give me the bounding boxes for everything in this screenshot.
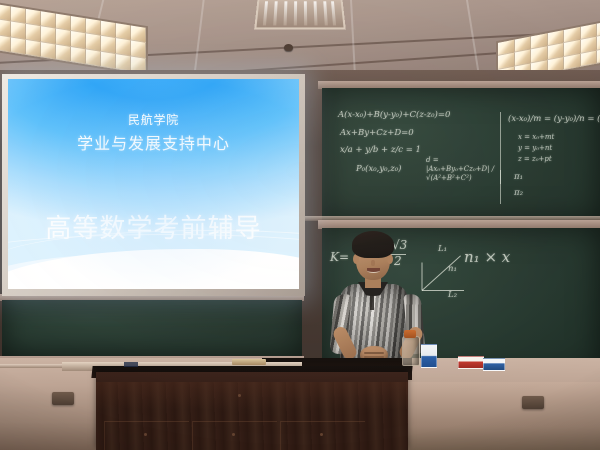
left-blackboard-strip — [2, 300, 302, 358]
ceiling-grid-line — [350, 0, 356, 76]
chalk-equation: x/a + y/b + z/c = 1 — [340, 145, 421, 155]
lectern-knob[interactable] — [144, 433, 147, 436]
chalk-equation: π₁ — [514, 172, 523, 182]
projected-slide: 民航学院 学业与发展支持中心 高等数学考前辅导 — [8, 79, 299, 289]
wall-mount-block — [522, 396, 544, 409]
chalk-equation: z = z₀+pt — [518, 155, 552, 163]
smoke-detector-icon — [284, 44, 293, 51]
parabolic-louver-light-right — [496, 15, 600, 76]
tissue-box[interactable] — [421, 344, 437, 368]
presenter-smile — [367, 268, 380, 273]
lectern-knob[interactable] — [238, 394, 241, 397]
chalk-equation: P₀(x₀,y₀,z₀) — [356, 164, 401, 174]
chalk-box-blue[interactable] — [483, 358, 505, 371]
presenter-hair — [352, 231, 394, 258]
parabolic-louver-light-left — [0, 2, 148, 76]
suspended-ceiling — [0, 0, 600, 76]
slide-organization-line2: 学业与发展支持中心 — [8, 130, 299, 154]
blackboard-upper-panel: A(x-x₀)+B(y-y₀)+C(z-z₀)=0 Ax+By+Cz+D=0 x… — [322, 88, 600, 222]
water-bottle-cap[interactable] — [404, 330, 416, 338]
chalk-equation: (x-x₀)/m = (y-y₀)/n = (z-z₀)/p — [508, 114, 600, 124]
chalk-equation: y = y₀+nt — [518, 144, 552, 152]
chalk-label: n₁ — [448, 264, 457, 274]
chalk-divider — [500, 170, 501, 204]
lectern-knob[interactable] — [232, 433, 235, 436]
chalk-label: L₂ — [448, 290, 457, 300]
chalk-equation: A(x-x₀)+B(y-y₀)+C(z-z₀)=0 — [338, 110, 450, 120]
lecture-hall-photograph: A(x-x₀)+B(y-y₀)+C(z-z₀)=0 Ax+By+Cz+D=0 x… — [0, 0, 600, 450]
lectern-knob[interactable] — [320, 433, 323, 436]
chalk-equation: x = x₀+mt — [518, 133, 554, 141]
chalk-box-red[interactable] — [458, 356, 484, 369]
wall-mount-block — [52, 392, 74, 405]
chalk-label: L₁ — [438, 244, 447, 254]
blackboard-eraser[interactable] — [232, 359, 266, 365]
chalk-vector-expression: n₁ × x — [464, 248, 510, 266]
presenter-nose — [371, 260, 375, 266]
pull-down-projection-screen: 民航学院 学业与发展支持中心 高等数学考前辅导 — [2, 74, 305, 296]
marker-pen[interactable] — [124, 362, 138, 367]
chalk-equation: π₂ — [514, 188, 523, 198]
chalk-equation: d = |Ax₀+By₀+Cz₀+D| / √(A²+B²+C²) — [426, 156, 496, 182]
water-bottle[interactable] — [402, 336, 420, 366]
presenter-placket — [370, 292, 374, 310]
projection-surface: 民航学院 学业与发展支持中心 高等数学考前辅导 — [8, 79, 299, 289]
ceiling-air-vent — [254, 0, 346, 29]
wooden-lectern — [96, 372, 408, 450]
chalk-equation: Ax+By+Cz+D=0 — [340, 128, 414, 138]
ceiling-grid-line — [193, 0, 204, 76]
slide-organization-line1: 民航学院 — [8, 111, 299, 128]
